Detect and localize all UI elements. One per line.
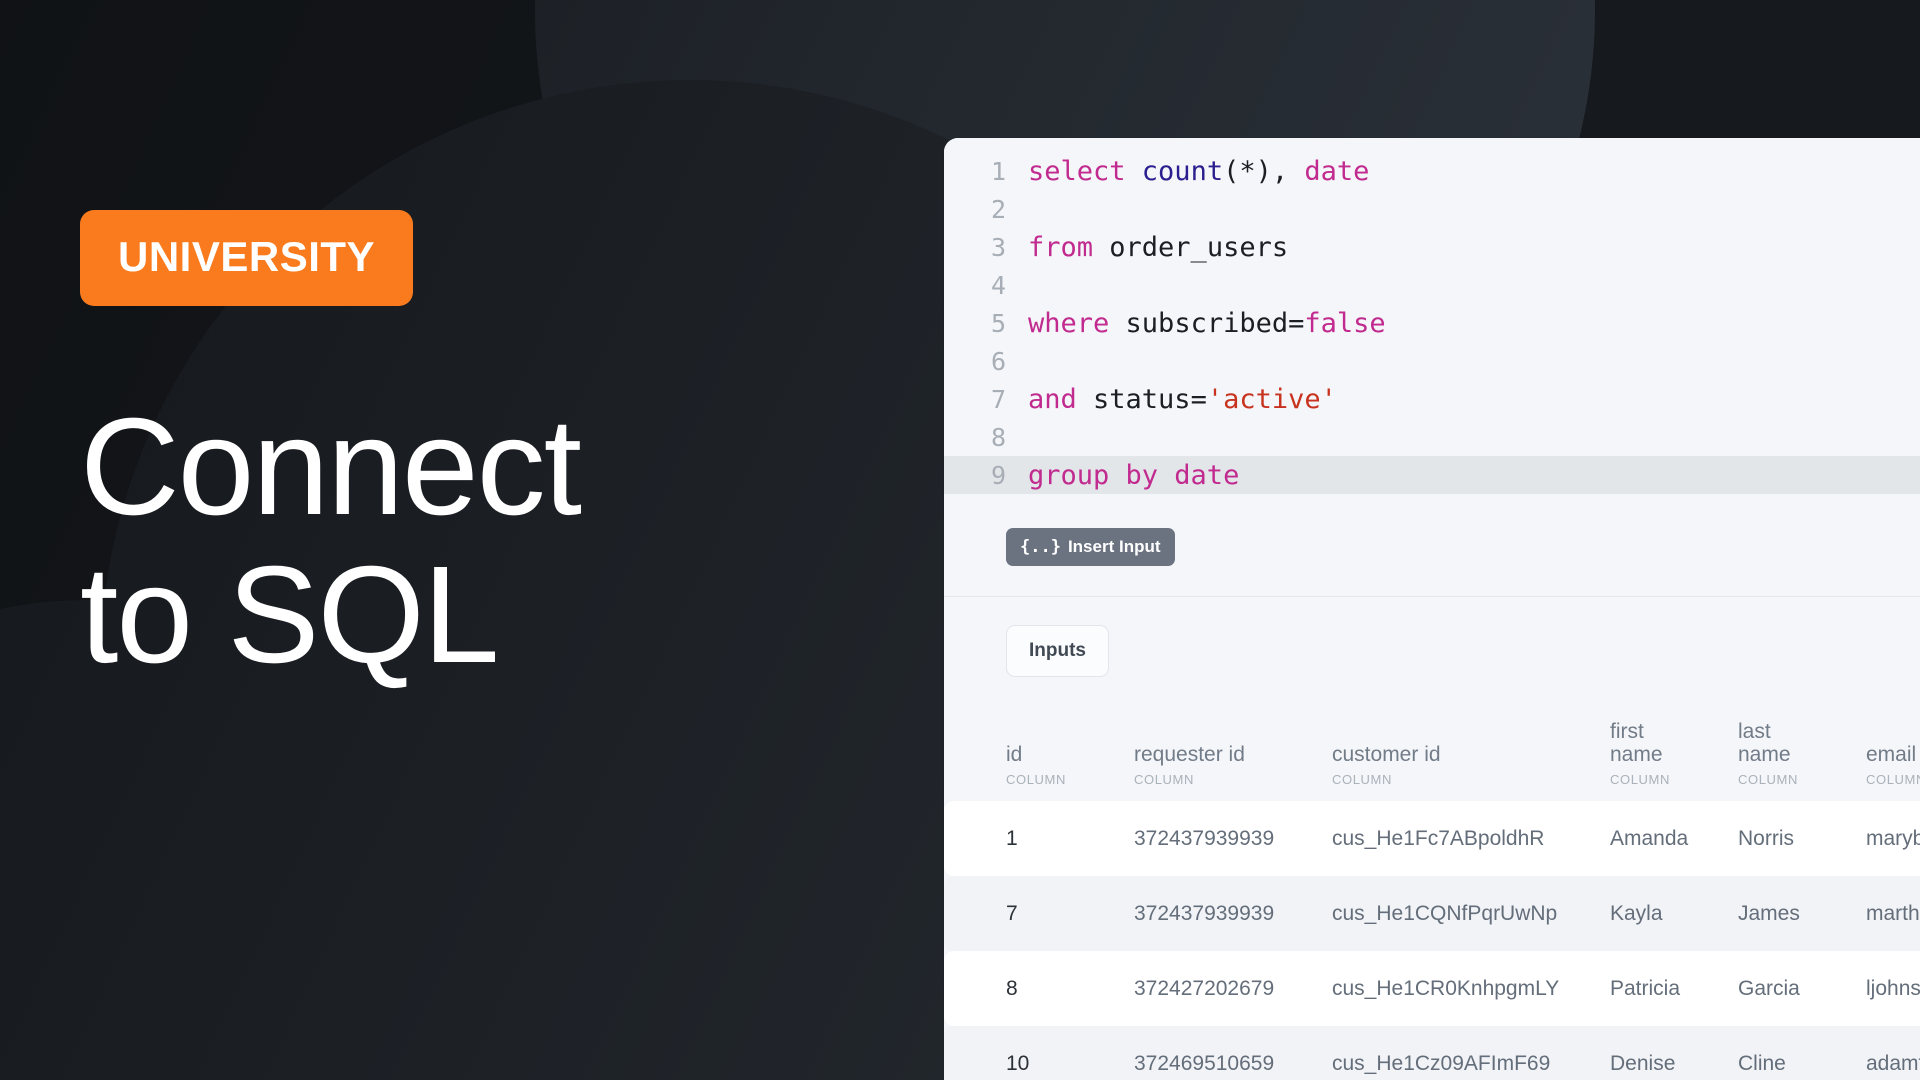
table-column-header[interactable]: lastnameCOLUMN xyxy=(1738,720,1866,801)
line-number: 1 xyxy=(944,157,1028,186)
table-cell: Norris xyxy=(1738,827,1866,851)
column-name: requester id xyxy=(1134,743,1314,767)
table-cell: Garcia xyxy=(1738,977,1866,1001)
sql-editor-panel: 1select count(*), date23from order_users… xyxy=(944,138,1920,1080)
table-cell: adamthompson@hen xyxy=(1866,1052,1920,1076)
page-title-line-2: to SQL xyxy=(80,542,840,690)
code-token: count xyxy=(1142,156,1223,187)
code-token: subscribed xyxy=(1126,308,1289,339)
table-cell: marybennett@strickla xyxy=(1866,827,1920,851)
table-cell: martha59@gmail.com xyxy=(1866,902,1920,926)
code-token: false xyxy=(1304,308,1385,339)
table-column-header[interactable]: customer idCOLUMN xyxy=(1332,743,1610,801)
code-token: where xyxy=(1028,308,1126,339)
sql-code-editor[interactable]: 1select count(*), date23from order_users… xyxy=(944,138,1920,494)
insert-input-label: Insert Input xyxy=(1068,537,1161,557)
page-title-line-1: Connect xyxy=(80,394,840,542)
table-cell: 1 xyxy=(944,827,1134,851)
table-cell: cus_He1Fc7ABpoldhR xyxy=(1332,827,1610,851)
table-column-header[interactable]: emailCOLUMN xyxy=(1866,743,1920,801)
column-subtitle: COLUMN xyxy=(1866,772,1920,787)
column-name: lastname xyxy=(1738,720,1848,767)
line-number: 6 xyxy=(944,347,1028,376)
table-cell: 372437939939 xyxy=(1134,827,1332,851)
code-token: date xyxy=(1304,156,1369,187)
table-cell: Cline xyxy=(1738,1052,1866,1076)
code-token: order_users xyxy=(1109,232,1288,263)
insert-input-toolbar: {..} Insert Input xyxy=(944,494,1920,597)
line-number: 2 xyxy=(944,195,1028,224)
code-token: (*), xyxy=(1223,156,1304,187)
table-cell: James xyxy=(1738,902,1866,926)
page-title: Connect to SQL xyxy=(80,394,840,689)
code-text: group by date xyxy=(1028,460,1239,491)
code-text: select count(*), date xyxy=(1028,156,1369,187)
line-number: 8 xyxy=(944,423,1028,452)
table-cell: 372427202679 xyxy=(1134,977,1332,1001)
column-name: customer id xyxy=(1332,743,1592,767)
code-line[interactable]: 5where subscribed=false xyxy=(944,304,1920,342)
table-column-header[interactable]: firstnameCOLUMN xyxy=(1610,720,1738,801)
code-token: from xyxy=(1028,232,1109,263)
table-cell: ljohnson@rosales.com xyxy=(1866,977,1920,1001)
table-cell: Amanda xyxy=(1610,827,1738,851)
code-text: where subscribed=false xyxy=(1028,308,1386,339)
table-cell: 8 xyxy=(944,977,1134,1001)
line-number: 3 xyxy=(944,233,1028,262)
table-cell: cus_He1CQNfPqrUwNp xyxy=(1332,902,1610,926)
code-token: = xyxy=(1288,308,1304,339)
code-line[interactable]: 9group by date xyxy=(944,456,1920,494)
code-line[interactable]: 2 xyxy=(944,190,1920,228)
code-line[interactable]: 4 xyxy=(944,266,1920,304)
university-badge: UNIVERSITY xyxy=(80,210,413,306)
table-cell: Patricia xyxy=(1610,977,1738,1001)
code-token: status xyxy=(1093,384,1191,415)
hero-block: UNIVERSITY Connect to SQL xyxy=(80,210,840,689)
table-row[interactable]: 10372469510659cus_He1Cz09AFImF69DeniseCl… xyxy=(944,1026,1920,1080)
inputs-tab-button[interactable]: Inputs xyxy=(1006,625,1109,677)
table-row[interactable]: 8372427202679cus_He1CR0KnhpgmLYPatriciaG… xyxy=(944,951,1920,1026)
insert-input-button[interactable]: {..} Insert Input xyxy=(1006,528,1175,566)
table-row[interactable]: 7372437939939cus_He1CQNfPqrUwNpKaylaJame… xyxy=(944,876,1920,951)
code-token: = xyxy=(1191,384,1207,415)
column-name: firstname xyxy=(1610,720,1720,767)
table-cell: cus_He1CR0KnhpgmLY xyxy=(1332,977,1610,1001)
slide-canvas: UNIVERSITY Connect to SQL 1select count(… xyxy=(0,0,1920,1080)
code-line[interactable]: 7and status='active' xyxy=(944,380,1920,418)
table-cell: 372469510659 xyxy=(1134,1052,1332,1076)
code-token: and xyxy=(1028,384,1093,415)
table-cell: cus_He1Cz09AFImF69 xyxy=(1332,1052,1610,1076)
code-line[interactable]: 1select count(*), date xyxy=(944,152,1920,190)
braces-icon: {..} xyxy=(1020,537,1061,557)
results-table: idCOLUMNrequester idCOLUMNcustomer idCOL… xyxy=(944,709,1920,1080)
table-cell: Kayla xyxy=(1610,902,1738,926)
column-subtitle: COLUMN xyxy=(1610,772,1720,787)
table-cell: 7 xyxy=(944,902,1134,926)
code-text: from order_users xyxy=(1028,232,1288,263)
table-column-header[interactable]: requester idCOLUMN xyxy=(1134,743,1332,801)
code-line[interactable]: 6 xyxy=(944,342,1920,380)
code-token: group by date xyxy=(1028,460,1239,491)
table-column-header[interactable]: idCOLUMN xyxy=(944,743,1134,801)
code-text: and status='active' xyxy=(1028,384,1337,415)
column-name: id xyxy=(1006,743,1116,767)
inputs-section: Inputs xyxy=(944,597,1920,677)
code-token: select xyxy=(1028,156,1142,187)
code-token: 'active' xyxy=(1207,384,1337,415)
column-subtitle: COLUMN xyxy=(1738,772,1848,787)
line-number: 5 xyxy=(944,309,1028,338)
line-number: 4 xyxy=(944,271,1028,300)
code-line[interactable]: 3from order_users xyxy=(944,228,1920,266)
table-cell: 10 xyxy=(944,1052,1134,1076)
column-subtitle: COLUMN xyxy=(1134,772,1314,787)
table-header-row: idCOLUMNrequester idCOLUMNcustomer idCOL… xyxy=(944,709,1920,801)
column-subtitle: COLUMN xyxy=(1006,772,1116,787)
table-cell: Denise xyxy=(1610,1052,1738,1076)
table-row[interactable]: 1372437939939cus_He1Fc7ABpoldhRAmandaNor… xyxy=(944,801,1920,876)
column-name: email xyxy=(1866,743,1920,767)
table-cell: 372437939939 xyxy=(1134,902,1332,926)
line-number: 9 xyxy=(944,461,1028,490)
code-line[interactable]: 8 xyxy=(944,418,1920,456)
column-subtitle: COLUMN xyxy=(1332,772,1592,787)
line-number: 7 xyxy=(944,385,1028,414)
